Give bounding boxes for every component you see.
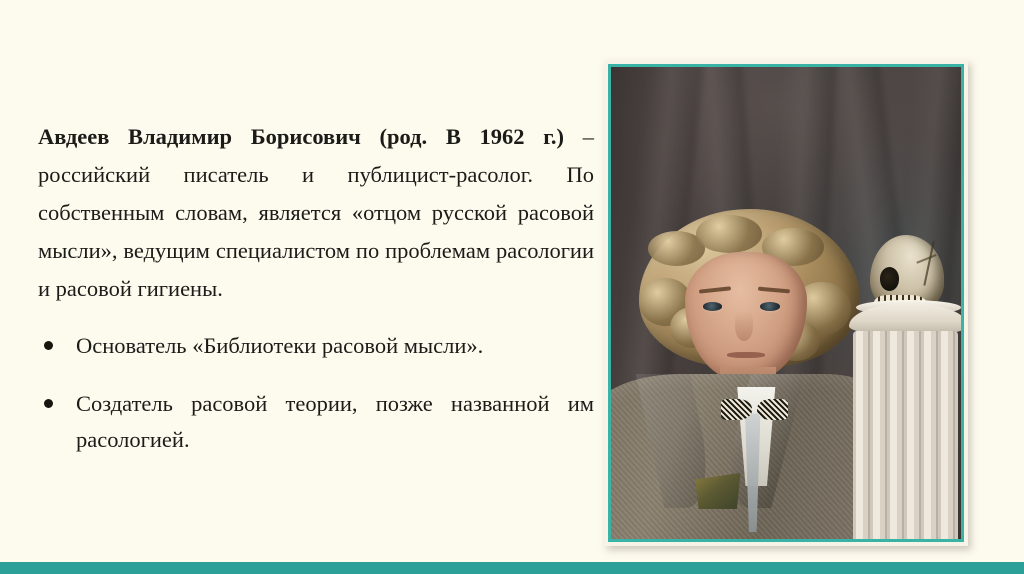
- skull-crack: [916, 254, 936, 264]
- text-content-block: Авдеев Владимир Борисович (род. В 1962 г…: [38, 118, 594, 480]
- eye-right: [760, 302, 780, 311]
- slide: Авдеев Владимир Борисович (род. В 1962 г…: [0, 0, 1024, 574]
- intro-paragraph-rest: – российский писатель и публицист-расоло…: [38, 124, 594, 301]
- bullet-dot-icon: [44, 341, 53, 350]
- list-item-label: Основатель «Библиотеки расовой мысли».: [76, 333, 483, 358]
- list-item-label: Создатель расовой теории, позже названно…: [76, 391, 594, 452]
- portrait-photo: [611, 67, 961, 539]
- portrait-photo-border: [608, 64, 964, 542]
- bottom-accent-band: [0, 562, 1024, 574]
- skull-eye-socket: [880, 267, 899, 290]
- intro-paragraph: Авдеев Владимир Борисович (род. В 1962 г…: [38, 118, 594, 308]
- bullet-dot-icon: [44, 399, 53, 408]
- fluted-column-pedestal: [853, 331, 958, 539]
- skull-crack: [924, 241, 935, 286]
- mouth: [727, 352, 766, 358]
- list-item: Создатель расовой теории, позже названно…: [38, 386, 594, 458]
- eye-left: [703, 302, 723, 311]
- bullet-list: Основатель «Библиотеки расовой мысли». С…: [38, 328, 594, 458]
- hair-curl: [696, 215, 762, 253]
- portrait-photo-frame: [604, 60, 968, 546]
- bow-tie: [721, 399, 788, 420]
- list-item: Основатель «Библиотеки расовой мысли».: [38, 328, 594, 364]
- nose: [735, 311, 753, 341]
- person-name-bold: Авдеев Владимир Борисович (род. В 1962 г…: [38, 124, 564, 149]
